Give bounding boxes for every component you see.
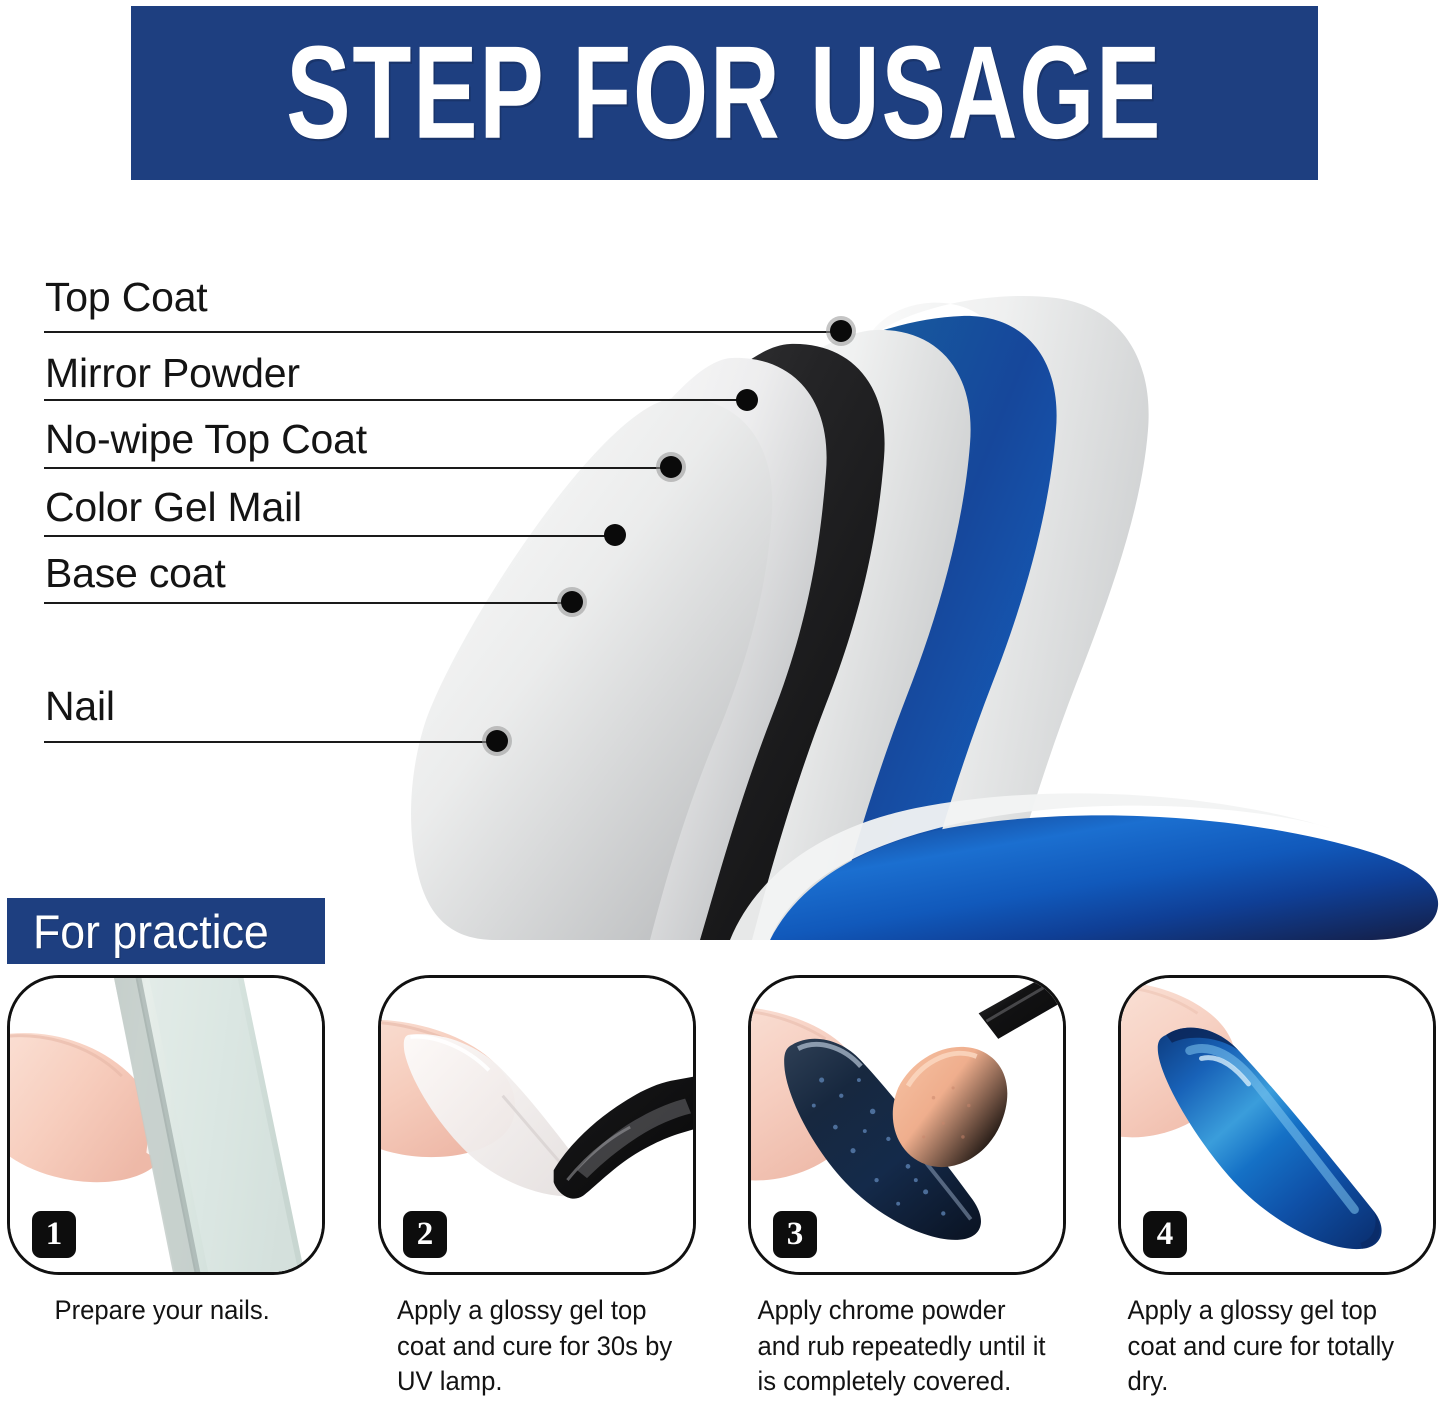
step-4-badge: 4 (1143, 1211, 1187, 1258)
step-4-photo: 4 (1118, 975, 1436, 1275)
step-2-caption: Apply a glossy gel top coat and cure for… (378, 1293, 680, 1400)
nail-layer-diagram (400, 280, 1445, 940)
label-nail: Nail (45, 686, 115, 727)
practice-step-2: 2 Apply a glossy gel top coat and cure f… (378, 975, 696, 1400)
practice-step-1: 1 Prepare your nails. (7, 975, 325, 1329)
step-3-photo: 3 (748, 975, 1066, 1275)
practice-step-3: 3 Apply chrome powder and rub repeatedly… (748, 975, 1066, 1400)
page-title: STEP FOR USAGE (286, 27, 1162, 159)
title-banner: STEP FOR USAGE (131, 6, 1318, 180)
practice-steps: 1 Prepare your nails. (0, 975, 1445, 1414)
for-practice-banner: For practice (7, 898, 325, 964)
label-top-coat: Top Coat (45, 277, 208, 318)
label-base-coat: Base coat (45, 553, 226, 594)
step-2-badge: 2 (403, 1211, 447, 1258)
for-practice-label: For practice (33, 908, 269, 955)
step-2-photo: 2 (378, 975, 696, 1275)
step-3-badge: 3 (773, 1211, 817, 1258)
step-1-badge: 1 (32, 1211, 76, 1258)
practice-step-4: 4 Apply a glossy gel top coat and cure f… (1118, 975, 1436, 1400)
step-3-caption: Apply chrome powder and rub repeatedly u… (748, 1293, 1050, 1400)
step-1-photo: 1 (7, 975, 325, 1275)
label-nowipe-top-coat: No-wipe Top Coat (45, 419, 367, 460)
step-4-caption: Apply a glossy gel top coat and cure for… (1118, 1293, 1420, 1400)
infographic-page: STEP FOR USAGE (0, 0, 1445, 1414)
label-mirror-powder: Mirror Powder (45, 353, 300, 394)
step-1-caption: Prepare your nails. (7, 1293, 309, 1329)
label-color-gel-mail: Color Gel Mail (45, 487, 302, 528)
